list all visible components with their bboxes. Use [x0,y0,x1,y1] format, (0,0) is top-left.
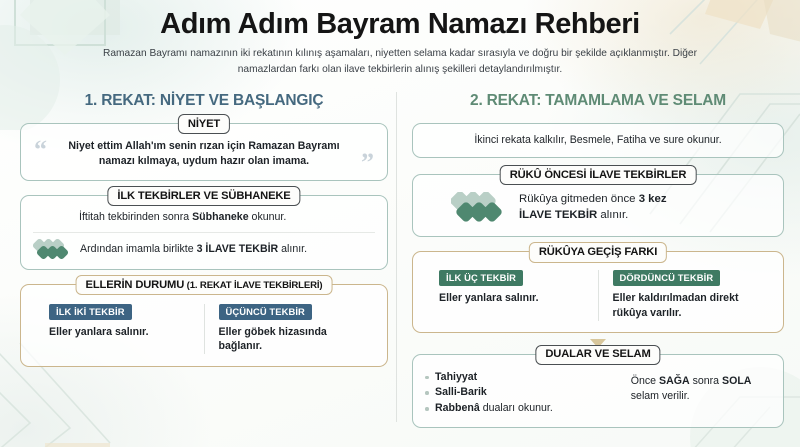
eller-split: İLK İKİ TEKBİR Eller yanlara salınır. ÜÇ… [33,302,375,354]
card-niyet: NİYET “ Niyet ettim Allah'ım senin rızan… [20,123,388,181]
badge-ilk-tekbirler: İLK TEKBİRLER VE SÜBHANEKE [107,186,300,206]
niyet-text: Niyet ettim Allah'ım senin rızan için Ra… [53,139,355,169]
left-column: 1. REKAT: NİYET VE BAŞLANGIÇ NİYET “ Niy… [20,92,388,381]
gecis-cell-1: İLK ÜÇ TEKBİR Eller yanlara salınır. [435,268,588,305]
ruku-oncesi-b: 3 kez [639,193,667,205]
card-intro: İkinci rekata kalkılır, Besmele, Fatiha … [412,123,784,158]
intro-text: İkinci rekata kalkılır, Besmele, Fatiha … [425,133,771,148]
eller-cell-2-text: Eller göbek hizasında bağlanır. [219,325,360,355]
page-header: Adım Adım Bayram Namazı Rehberi Ramazan … [0,0,800,77]
pill-ucuncu-tekbir: ÜÇÜNCÜ TEKBİR [219,304,312,320]
quote-close-icon: ” [361,150,374,176]
right-column-heading: 2. REKAT: TAMAMLAMA VE SELAM [412,92,784,110]
dualar-body: Tahiyyat Salli-Barik Rabbenâ duaları oku… [425,370,771,418]
card-ilk-tekbirler: İLK TEKBİRLER VE SÜBHANEKE İftitah tekbi… [20,195,388,270]
selam-c: sonra [690,375,722,387]
card-separator [33,232,375,233]
selam-line1: Önce SAĞA sonra SOLA [631,374,771,389]
ruku-oncesi-c: İLAVE TEKBİR [519,209,597,221]
selam-a: Önce [631,375,659,387]
niyet-quote: “ Niyet ettim Allah'ım senin rızan için … [33,137,375,169]
dua-name: Tahiyyat [435,371,477,383]
eller-cell-1: İLK İKİ TEKBİR Eller yanlara salınır. [45,302,194,339]
dua-name: Rabbenâ [435,402,480,414]
badge-ruku-oncesi: RÜKÛ ÖNCESİ İLAVE TEKBİRLER [500,165,697,185]
gecis-cell-2: DÖRDÜNCÜ TEKBİR Eller kaldırılmadan dire… [609,268,762,320]
diamond-cluster-icon [33,239,71,259]
selam-line2: selam verilir. [631,389,771,404]
gecis-cell-2-text: Eller kaldırılmadan direkt rükûya varılı… [613,291,758,321]
selam-d: SOLA [722,375,751,387]
pill-ilk-iki-tekbir: İLK İKİ TEKBİR [49,304,132,320]
badge-dualar-selam: DUALAR VE SELAM [535,345,660,365]
badge-ellerin-sub: (1. REKAT İLAVE TEKBİRLERİ) [184,280,322,291]
card-ellerin-durumu: ELLERİN DURUMU (1. REKAT İLAVE TEKBİRLER… [20,284,388,367]
badge-ellerin-durumu: ELLERİN DURUMU (1. REKAT İLAVE TEKBİRLER… [76,275,333,295]
right-column: 2. REKAT: TAMAMLAMA VE SELAM İkinci reka… [412,92,784,442]
list-item: Rabbenâ duaları okunur. [425,401,619,417]
diamond-cluster-icon [451,192,507,222]
page-title: Adım Adım Bayram Namazı Rehberi [0,9,800,39]
dualar-list-wrap: Tahiyyat Salli-Barik Rabbenâ duaları oku… [425,370,619,418]
tekbirler-line1-a: İftitah tekbirinden sonra [79,211,192,223]
dualar-list: Tahiyyat Salli-Barik Rabbenâ duaları oku… [425,370,619,418]
badge-gecis-farki: RÜKÛYA GEÇİŞ FARKI [529,242,667,262]
column-divider [396,92,397,422]
ruku-oncesi-line2: İLAVE TEKBİR alınır. [519,207,667,223]
cell-divider [598,270,599,320]
badge-ellerin-main: ELLERİN DURUMU [86,279,185,291]
ruku-oncesi-line1: Rükûya gitmeden önce 3 kez [519,191,667,207]
list-item: Tahiyyat [425,370,619,386]
quote-open-icon: “ [34,137,47,163]
ruku-oncesi-a: Rükûya gitmeden önce [519,193,639,205]
pill-ilk-uc-tekbir: İLK ÜÇ TEKBİR [439,270,523,286]
page-subtitle: Ramazan Bayramı namazının iki rekatının … [90,46,710,77]
ruku-oncesi-text: Rükûya gitmeden önce 3 kez İLAVE TEKBİR … [519,191,667,223]
tekbirler-line-2: Ardından imamla birlikte 3 İLAVE TEKBİR … [33,239,375,259]
pill-dorduncu-tekbir: DÖRDÜNCÜ TEKBİR [613,270,721,286]
tekbirler-line1-c: okunur. [249,211,287,223]
left-column-heading: 1. REKAT: NİYET VE BAŞLANGIÇ [20,92,388,110]
tekbirler-line2-b: 3 İLAVE TEKBİR [197,243,279,255]
dua-rest: duaları okunur. [480,402,553,414]
ruku-oncesi-row: Rükûya gitmeden önce 3 kez İLAVE TEKBİR … [425,191,771,223]
eller-cell-2: ÜÇÜNCÜ TEKBİR Eller göbek hizasında bağl… [215,302,364,354]
card-gecis-farki: RÜKÛYA GEÇİŞ FARKI İLK ÜÇ TEKBİR Eller y… [412,251,784,332]
card-ruku-oncesi: RÜKÛ ÖNCESİ İLAVE TEKBİRLER [412,174,784,237]
tekbirler-line-1: İftitah tekbirinden sonra Sübhaneke okun… [33,210,375,225]
badge-niyet: NİYET [178,114,230,134]
gecis-cell-1-text: Eller yanlara salınır. [439,291,584,306]
tekbirler-line2-text: Ardından imamla birlikte 3 İLAVE TEKBİR … [80,242,307,257]
infographic-page: Adım Adım Bayram Namazı Rehberi Ramazan … [0,0,800,447]
gecis-split: İLK ÜÇ TEKBİR Eller yanlara salınır. DÖR… [425,268,771,320]
cell-divider [204,304,205,354]
card-dualar-selam: DUALAR VE SELAM Tahiyyat Salli-Barik Rab… [412,354,784,429]
dua-name: Salli-Barik [435,386,487,398]
selam-b: SAĞA [659,375,690,387]
list-item: Salli-Barik [425,385,619,401]
selam-wrap: Önce SAĞA sonra SOLA selam verilir. [631,370,771,404]
tekbirler-line2-a: Ardından imamla birlikte [80,243,197,255]
ruku-oncesi-d: alınır. [597,209,628,221]
eller-cell-1-text: Eller yanlara salınır. [49,325,190,340]
tekbirler-line1-b: Sübhaneke [192,211,249,223]
tekbirler-line2-c: alınır. [278,243,307,255]
